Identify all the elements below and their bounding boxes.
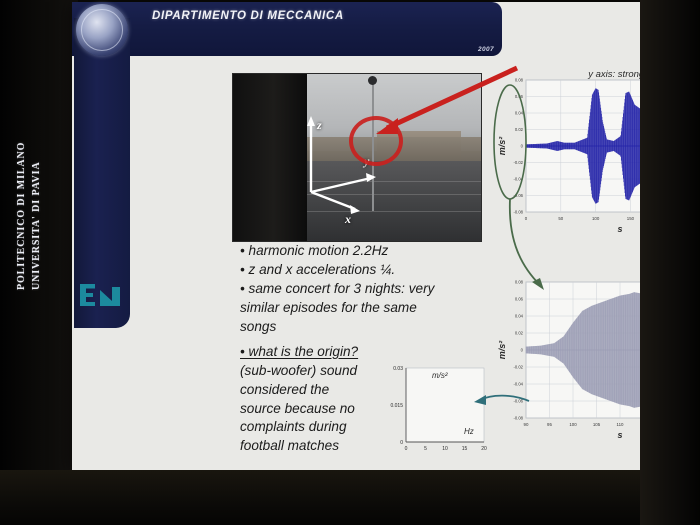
slide-surface: z y x • harmonic motion 2.2Hz • z and x … <box>72 2 644 472</box>
svg-text:150: 150 <box>627 216 635 221</box>
svg-text:y axis: strong axis: y axis: strong axis <box>587 69 644 80</box>
top-chart: 0501001502002500.080.060.040.020-0.02-0.… <box>490 64 644 244</box>
svg-text:5: 5 <box>424 446 427 452</box>
sidebar-label-politecnico: POLITECNICO DI MILANO <box>16 142 27 290</box>
bullet-item: • same concert for 3 nights: very <box>240 280 480 298</box>
svg-text:105: 105 <box>593 422 601 427</box>
svg-text:m/s²: m/s² <box>432 371 448 380</box>
svg-text:-0.04: -0.04 <box>513 177 523 182</box>
svg-text:Hz: Hz <box>464 427 474 436</box>
slide-header-band: DIPARTIMENTO DI MECCANICA 2007 <box>72 2 502 56</box>
svg-text:-0.06: -0.06 <box>513 193 523 198</box>
bottom-chart: 90951001051101151201251300.080.060.040.0… <box>490 270 644 450</box>
svg-text:0.08: 0.08 <box>515 280 524 285</box>
svg-text:0.08: 0.08 <box>515 78 524 83</box>
svg-text:-0.08: -0.08 <box>513 210 523 215</box>
bullet-item: songs <box>240 318 480 336</box>
svg-text:0.04: 0.04 <box>515 314 524 319</box>
svg-text:-0.02: -0.02 <box>513 365 523 370</box>
svg-text:0.06: 0.06 <box>515 94 524 99</box>
room-dark-foreground <box>0 470 700 525</box>
svg-text:15: 15 <box>462 446 468 452</box>
sidebar-label-universita: UNIVERSITA' DI PAVIA <box>31 161 42 290</box>
bullet-item: similar episodes for the same <box>240 299 480 317</box>
bullet-item: • harmonic motion 2.2Hz <box>240 242 480 260</box>
svg-text:m/s²: m/s² <box>497 340 507 360</box>
inset-spectrum-chart: 0510152000.0150.03m/s²Hz <box>378 354 494 466</box>
bullet-item: • z and x accelerations ¼. <box>240 261 480 279</box>
page-title: DIPARTIMENTO DI MECCANICA <box>152 10 344 22</box>
svg-text:0.02: 0.02 <box>515 331 524 336</box>
svg-text:0: 0 <box>521 348 524 353</box>
svg-text:10: 10 <box>442 446 448 452</box>
svg-text:50: 50 <box>558 216 563 221</box>
svg-text:100: 100 <box>592 216 600 221</box>
en-logo-icon <box>78 281 124 309</box>
room-dark-right-wall <box>640 0 700 525</box>
svg-text:20: 20 <box>481 446 487 452</box>
svg-text:0: 0 <box>405 446 408 452</box>
svg-text:110: 110 <box>617 422 625 427</box>
svg-text:-0.08: -0.08 <box>513 416 523 421</box>
svg-text:0: 0 <box>400 440 403 446</box>
year-label: 2007 <box>478 46 494 53</box>
svg-text:0.02: 0.02 <box>515 127 524 132</box>
svg-text:0.03: 0.03 <box>393 366 403 372</box>
svg-text:-0.04: -0.04 <box>513 382 523 387</box>
axis-label-x: x <box>345 212 351 227</box>
axis-label-z: z <box>317 118 322 133</box>
svg-text:100: 100 <box>569 422 577 427</box>
projected-slide-photo: z y x • harmonic motion 2.2Hz • z and x … <box>0 0 700 525</box>
svg-text:s: s <box>617 430 622 440</box>
svg-text:s: s <box>617 224 622 234</box>
svg-text:-0.06: -0.06 <box>513 399 523 404</box>
svg-text:-0.02: -0.02 <box>513 160 523 165</box>
svg-text:95: 95 <box>547 422 552 427</box>
svg-text:0.06: 0.06 <box>515 297 524 302</box>
svg-text:0.015: 0.015 <box>390 403 403 409</box>
svg-text:0.04: 0.04 <box>515 111 524 116</box>
svg-text:0: 0 <box>521 144 524 149</box>
svg-text:90: 90 <box>524 422 529 427</box>
svg-text:0: 0 <box>525 216 528 221</box>
university-crest-icon <box>76 4 128 56</box>
svg-text:m/s²: m/s² <box>497 136 507 156</box>
